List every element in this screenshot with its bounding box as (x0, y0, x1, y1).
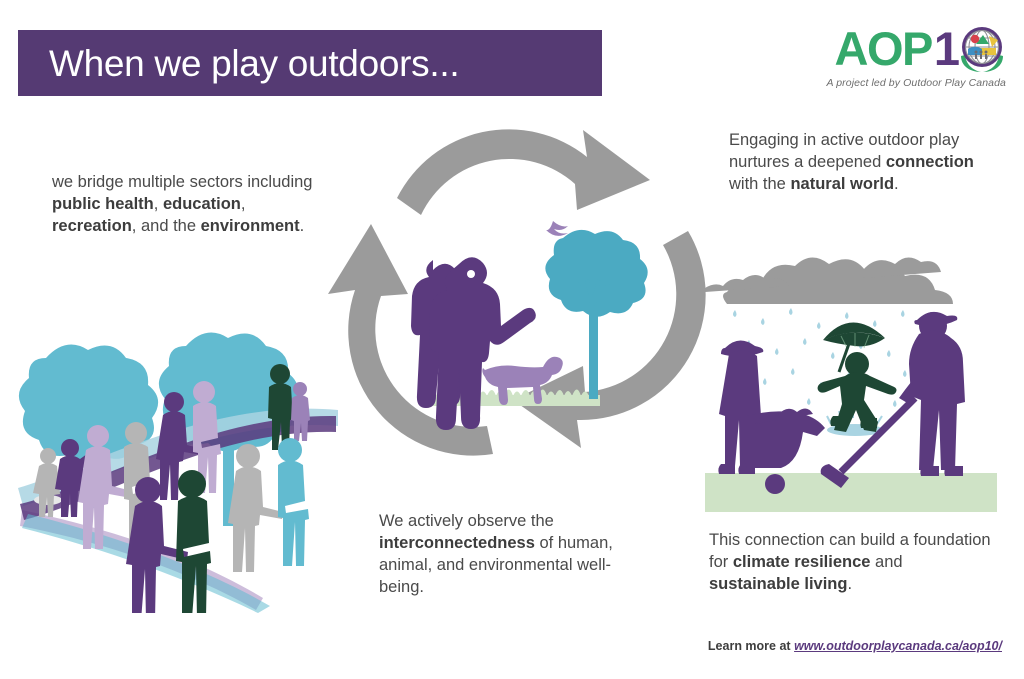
globe-icon (956, 22, 1008, 74)
text-segment-0: We actively observe the (379, 512, 554, 530)
text-segment-5: recreation (52, 217, 132, 235)
logo-wordmark: AOP 1 (796, 22, 1008, 74)
figure-with-wheelbarrow (718, 340, 825, 494)
bird-icon (546, 221, 568, 236)
illustration-sectors (8, 288, 353, 613)
text-segment-1: climate resilience (733, 553, 871, 571)
text-block-connection: Engaging in active outdoor play nurtures… (729, 130, 991, 196)
text-block-interconnectedness: We actively observe the interconnectedne… (379, 511, 619, 599)
text-segment-6: , and the (132, 217, 201, 235)
cycle-arrow-group (328, 129, 706, 455)
text-segment-3: natural world (790, 175, 894, 193)
text-segment-4: . (894, 175, 899, 193)
title-banner: When we play outdoors... (18, 30, 602, 96)
text-segment-4: , (241, 195, 246, 213)
text-segment-3: education (163, 195, 241, 213)
text-segment-8: . (300, 217, 305, 235)
text-segment-4: . (847, 575, 852, 593)
illustration-rain (705, 248, 997, 512)
text-segment-2: and (870, 553, 902, 571)
text-segment-0: we bridge multiple sectors including (52, 173, 312, 191)
logo-tagline: A project led by Outdoor Play Canada (796, 77, 1008, 89)
aop10-logo: AOP 1 (796, 22, 1008, 100)
text-segment-2: with the (729, 175, 790, 193)
text-block-climate: This connection can build a foundation f… (709, 530, 994, 596)
text-segment-1: connection (886, 153, 974, 171)
text-segment-7: environment (201, 217, 300, 235)
logo-aop-text: AOP (835, 25, 932, 72)
rain-cloud (705, 257, 953, 304)
text-segment-1: public health (52, 195, 154, 213)
text-segment-1: interconnectedness (379, 534, 535, 552)
text-segment-2: , (154, 195, 163, 213)
learn-more-label: Learn more at (708, 639, 794, 653)
teal-tree (545, 230, 647, 399)
illustration-cycle (325, 118, 715, 478)
outdoor-play-canada-link[interactable]: www.outdoorplaycanada.ca/aop10/ (794, 639, 1002, 653)
footer-learn-more: Learn more at www.outdoorplaycanada.ca/a… (708, 639, 1002, 653)
text-block-sectors: we bridge multiple sectors including pub… (52, 172, 320, 238)
child-with-umbrella (818, 322, 897, 432)
text-segment-3: sustainable living (709, 575, 847, 593)
grass-base (705, 473, 997, 512)
page-title: When we play outdoors... (18, 45, 459, 82)
